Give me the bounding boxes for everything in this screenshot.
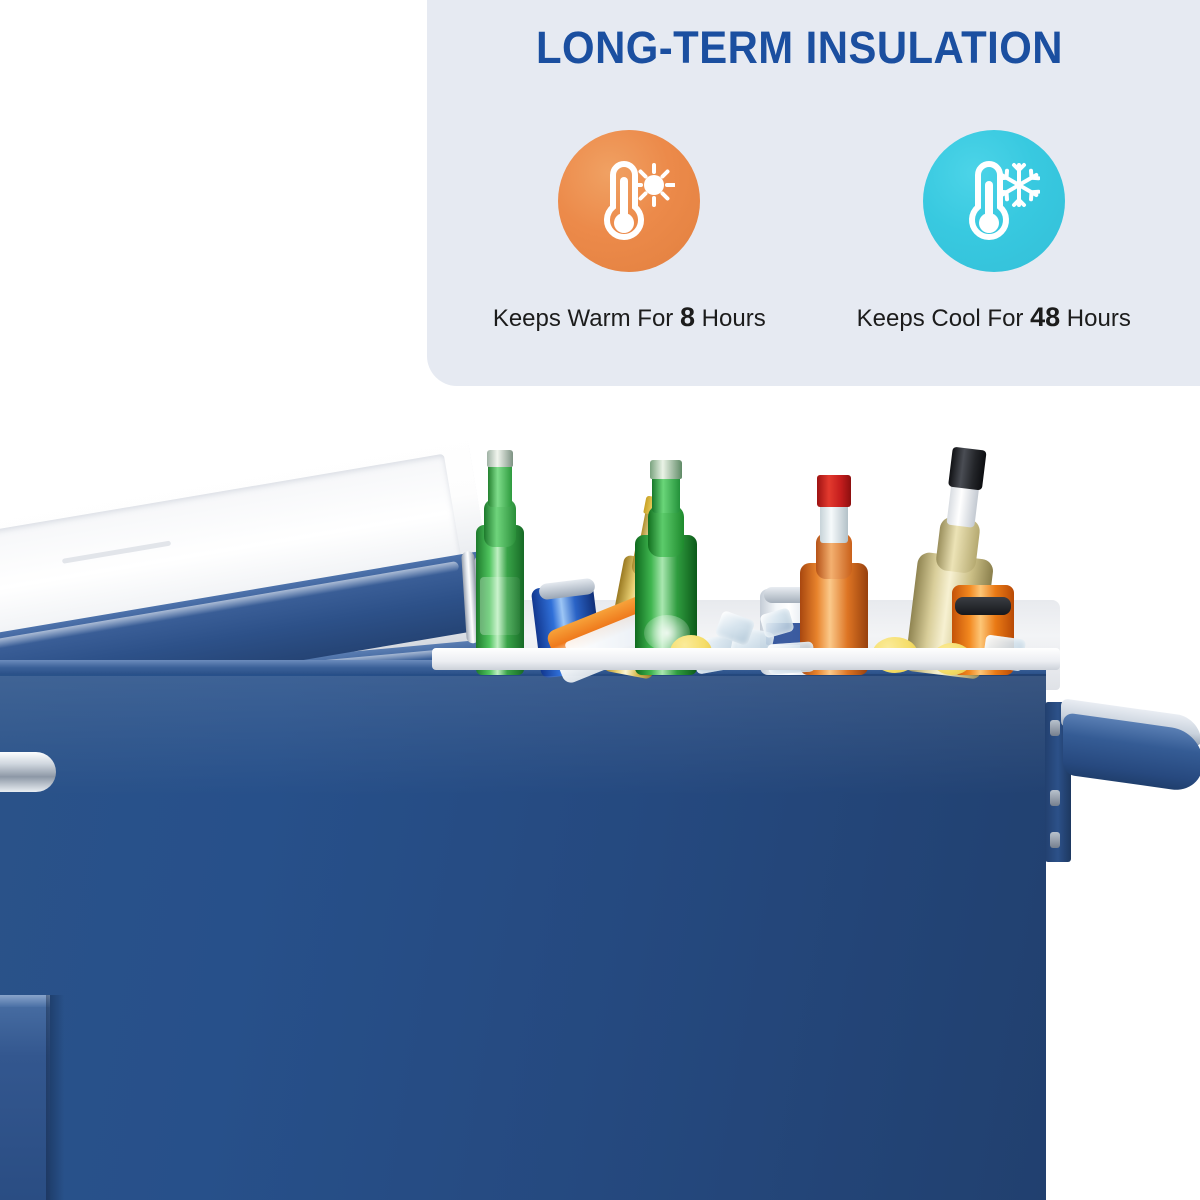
- left-side-shelf-top: [0, 995, 50, 1007]
- bottle-cap: [817, 475, 851, 507]
- bottle-cap: [650, 460, 682, 479]
- bottle-cap: [487, 450, 513, 467]
- page-title: LONG-TERM INSULATION: [453, 22, 1146, 74]
- benefit-caption-cool-prefix: Keeps Cool For: [857, 305, 1030, 332]
- cooler-contents: [432, 440, 1060, 675]
- green-beer-bottle: [474, 450, 526, 675]
- thermometer-snowflake-icon: [923, 130, 1065, 272]
- background-mask-right: [1046, 860, 1200, 1200]
- benefit-value-warm: 8: [680, 302, 695, 332]
- handle-screw: [1050, 832, 1060, 848]
- left-side-shelf-shadow: [46, 995, 64, 1200]
- benefit-caption-warm-suffix: Hours: [695, 305, 766, 332]
- left-side-shelf: [0, 995, 50, 1200]
- benefit-caption-cool: Keeps Cool For 48 Hours: [829, 302, 1159, 333]
- benefit-caption-warm: Keeps Warm For 8 Hours: [464, 302, 794, 333]
- benefit-caption-warm-prefix: Keeps Warm For: [493, 305, 680, 332]
- insulation-info-panel: LONG-TERM INSULATION: [427, 0, 1200, 386]
- product-marketing-image: LONG-TERM INSULATION: [0, 0, 1200, 1200]
- basin-rim: [432, 648, 1060, 670]
- handle-screw: [1050, 720, 1060, 736]
- benefit-caption-cool-suffix: Hours: [1060, 305, 1131, 332]
- cooler-body-front: [0, 660, 1046, 1200]
- thermometer-sun-icon: [558, 130, 700, 272]
- bottle-cap: [948, 447, 987, 491]
- chrome-side-handle: [0, 752, 56, 792]
- benefit-keeps-cool: Keeps Cool For 48 Hours: [829, 130, 1159, 333]
- benefit-value-cool: 48: [1030, 302, 1060, 332]
- side-handle: [1035, 660, 1200, 850]
- background-mask-top-left: [0, 0, 427, 430]
- benefits-row: Keeps Warm For 8 Hours: [447, 130, 1176, 333]
- benefit-keeps-warm: Keeps Warm For 8 Hours: [464, 130, 794, 333]
- handle-screw: [1050, 790, 1060, 806]
